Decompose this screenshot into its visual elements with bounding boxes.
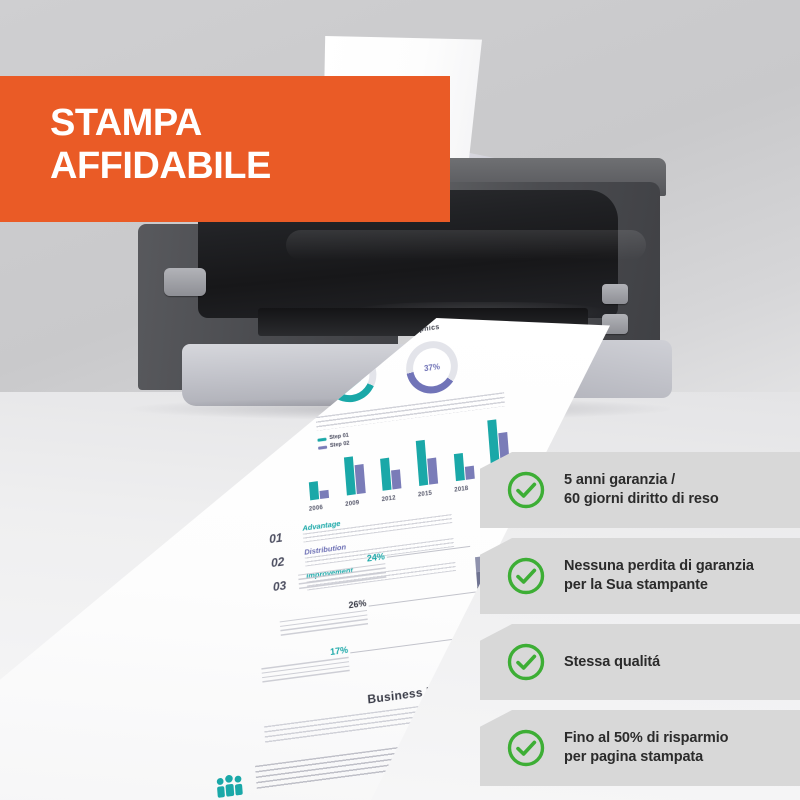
feature-card-warranty[interactable]: 5 anni garanzia / 60 giorni diritto di r… [480,452,800,528]
feature-card-label: Fino al 50% di risparmio per pagina stam… [564,729,728,766]
headline-line-2: AFFIDABILE [50,145,271,187]
feature-line-1: Nessuna perdita di garanzia [564,558,754,574]
feature-line-1: 5 anni garanzia / [564,472,675,488]
check-circle-icon [506,470,546,510]
feature-line-1: Stessa qualitá [564,654,660,670]
feature-card-label: Stessa qualitá [564,653,660,672]
feature-card-same-quality[interactable]: Stessa qualitá [480,624,800,700]
headline-text: STAMPA AFFIDABILE [50,102,271,187]
headline-line-1: STAMPA [50,102,202,144]
feature-line-2: per la Sua stampante [564,577,708,593]
feature-card-savings[interactable]: Fino al 50% di risparmio per pagina stam… [480,710,800,786]
check-circle-icon [506,556,546,596]
feature-line-2: 60 giorni diritto di reso [564,491,719,507]
poster-canvas: Banner Infographics 35% 37% Step 01 [0,0,800,800]
headline-banner: STAMPA AFFIDABILE [0,76,450,222]
feature-card-label: Nessuna perdita di garanzia per la Sua s… [564,557,754,594]
check-circle-icon [506,642,546,682]
feature-card-no-warranty-loss[interactable]: Nessuna perdita di garanzia per la Sua s… [480,538,800,614]
feature-line-2: per pagina stampata [564,749,703,765]
feature-line-1: Fino al 50% di risparmio [564,730,728,746]
check-circle-icon [506,728,546,768]
feature-card-label: 5 anni garanzia / 60 giorni diritto di r… [564,471,719,508]
